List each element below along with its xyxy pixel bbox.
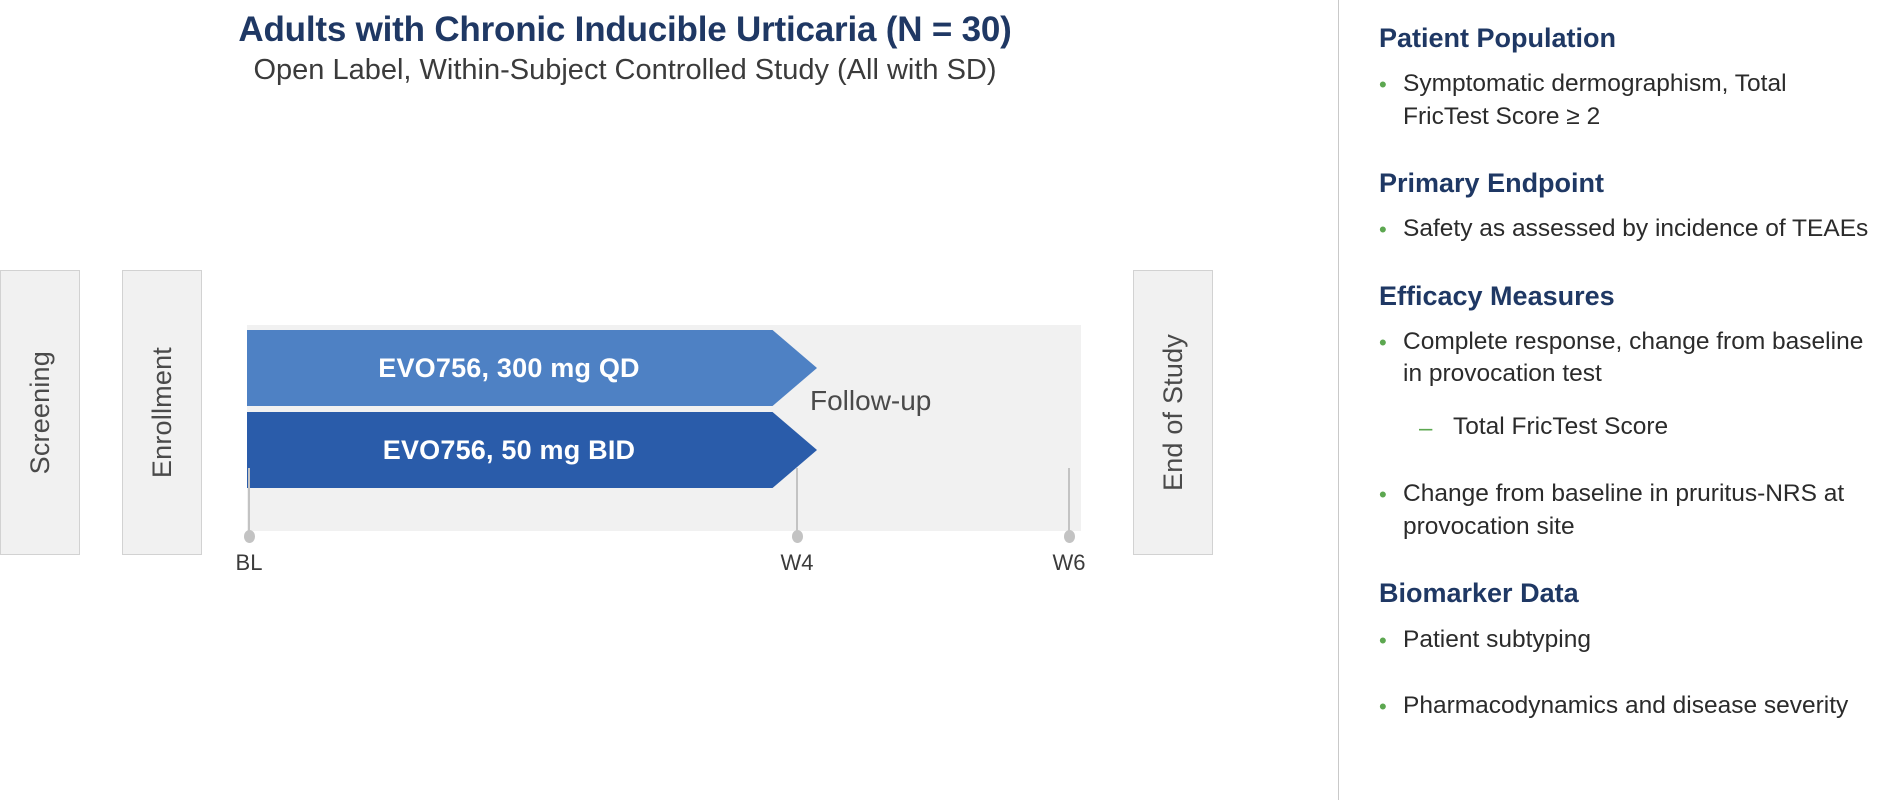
marker-stem-icon bbox=[1068, 468, 1070, 536]
study-design-diagram: Screening Enrollment Follow-up EVO756, 3… bbox=[0, 0, 1250, 800]
bullet-icon: • bbox=[1379, 213, 1403, 244]
treatment-arm-qd-label: EVO756, 300 mg QD bbox=[378, 353, 640, 384]
bullet-icon: • bbox=[1379, 690, 1403, 721]
phase-box-enrollment: Enrollment bbox=[122, 270, 202, 555]
spacer bbox=[1379, 452, 1879, 478]
side-panel: Patient Population • Symptomatic dermogr… bbox=[1379, 22, 1879, 730]
section-heading-patient-population: Patient Population bbox=[1379, 22, 1879, 54]
phase-label-enrollment: Enrollment bbox=[147, 347, 178, 478]
list-item-text: Safety as assessed by incidence of TEAEs bbox=[1403, 213, 1868, 245]
phase-label-screening: Screening bbox=[25, 351, 56, 474]
list-item-text: Change from baseline in pruritus-NRS at … bbox=[1403, 478, 1879, 543]
bullet-icon: • bbox=[1379, 68, 1403, 99]
slide-root: Adults with Chronic Inducible Urticaria … bbox=[0, 0, 1893, 800]
list-item: • Complete response, change from baselin… bbox=[1379, 326, 1879, 391]
dash-icon: – bbox=[1419, 411, 1453, 445]
bullet-icon: • bbox=[1379, 478, 1403, 509]
list-item: • Safety as assessed by incidence of TEA… bbox=[1379, 213, 1879, 245]
list-item: • Patient subtyping bbox=[1379, 624, 1879, 656]
timepoint-label-week-4: W4 bbox=[752, 550, 842, 576]
section-heading-primary-endpoint: Primary Endpoint bbox=[1379, 167, 1879, 199]
phase-label-end-of-study: End of Study bbox=[1158, 334, 1189, 491]
treatment-arm-bid-label: EVO756, 50 mg BID bbox=[383, 435, 636, 466]
section-heading-efficacy-measures: Efficacy Measures bbox=[1379, 280, 1879, 312]
list-item-text: Symptomatic dermographism, Total FricTes… bbox=[1403, 68, 1879, 133]
list-item-text: Patient subtyping bbox=[1403, 624, 1591, 656]
marker-dot-icon bbox=[244, 530, 255, 543]
list-item-sub: – Total FricTest Score bbox=[1419, 411, 1879, 445]
bullet-icon: • bbox=[1379, 326, 1403, 357]
bullet-icon: • bbox=[1379, 624, 1403, 655]
followup-label: Follow-up bbox=[810, 385, 1060, 417]
list-item-text: Pharmacodynamics and disease severity bbox=[1403, 690, 1848, 722]
section-heading-biomarker-data: Biomarker Data bbox=[1379, 577, 1879, 609]
list-item: • Symptomatic dermographism, Total FricT… bbox=[1379, 68, 1879, 133]
marker-dot-icon bbox=[1064, 530, 1075, 543]
phase-box-screening: Screening bbox=[0, 270, 80, 555]
marker-stem-icon bbox=[248, 468, 250, 536]
treatment-arm-qd: EVO756, 300 mg QD bbox=[247, 330, 817, 406]
marker-stem-icon bbox=[796, 468, 798, 536]
timepoint-label-week-6: W6 bbox=[1024, 550, 1114, 576]
list-item: • Change from baseline in pruritus-NRS a… bbox=[1379, 478, 1879, 543]
treatment-arm-bid: EVO756, 50 mg BID bbox=[247, 412, 817, 488]
list-item-text: Total FricTest Score bbox=[1453, 411, 1668, 443]
timepoint-label-baseline: BL bbox=[204, 550, 294, 576]
list-item-text: Complete response, change from baseline … bbox=[1403, 326, 1879, 391]
panel-divider bbox=[1338, 0, 1339, 800]
phase-box-end-of-study: End of Study bbox=[1133, 270, 1213, 555]
spacer bbox=[1379, 664, 1879, 690]
list-item: • Pharmacodynamics and disease severity bbox=[1379, 690, 1879, 722]
marker-dot-icon bbox=[792, 530, 803, 543]
